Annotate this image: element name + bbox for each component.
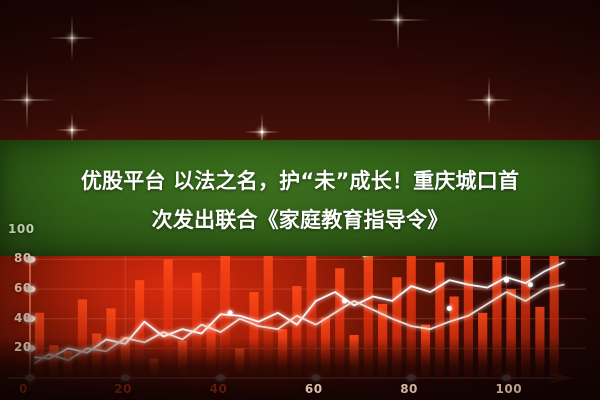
x-axis-tick-label: 80: [400, 382, 418, 396]
y-axis-tick-label: 80: [14, 251, 32, 265]
x-axis-tick-label: 100: [496, 382, 523, 396]
x-axis-tick-label: 40: [210, 382, 228, 396]
y-axis-tick-label: 60: [14, 281, 32, 295]
headline-line-1: 优股平台 以法之名，护“未”成长！重庆城口首: [0, 162, 600, 201]
y-axis-tick-label: 20: [14, 340, 32, 354]
y-axis-tick-label: 40: [14, 311, 32, 325]
news-banner-image: 优股平台 以法之名，护“未”成长！重庆城口首 次发出联合《家庭教育指导令》 20…: [0, 0, 600, 400]
data-point: [228, 310, 233, 315]
x-axis-tick-label: 60: [305, 382, 323, 396]
headline-line-2: 次发出联合《家庭教育指导令》: [0, 201, 600, 240]
data-point: [504, 278, 509, 283]
data-point: [342, 298, 347, 303]
x-axis-tick-label: 0: [19, 382, 28, 396]
y-axis-tick-label: 100: [8, 222, 35, 236]
data-point: [447, 306, 452, 311]
data-point: [528, 282, 533, 287]
x-axis-tick-label: 20: [114, 382, 132, 396]
